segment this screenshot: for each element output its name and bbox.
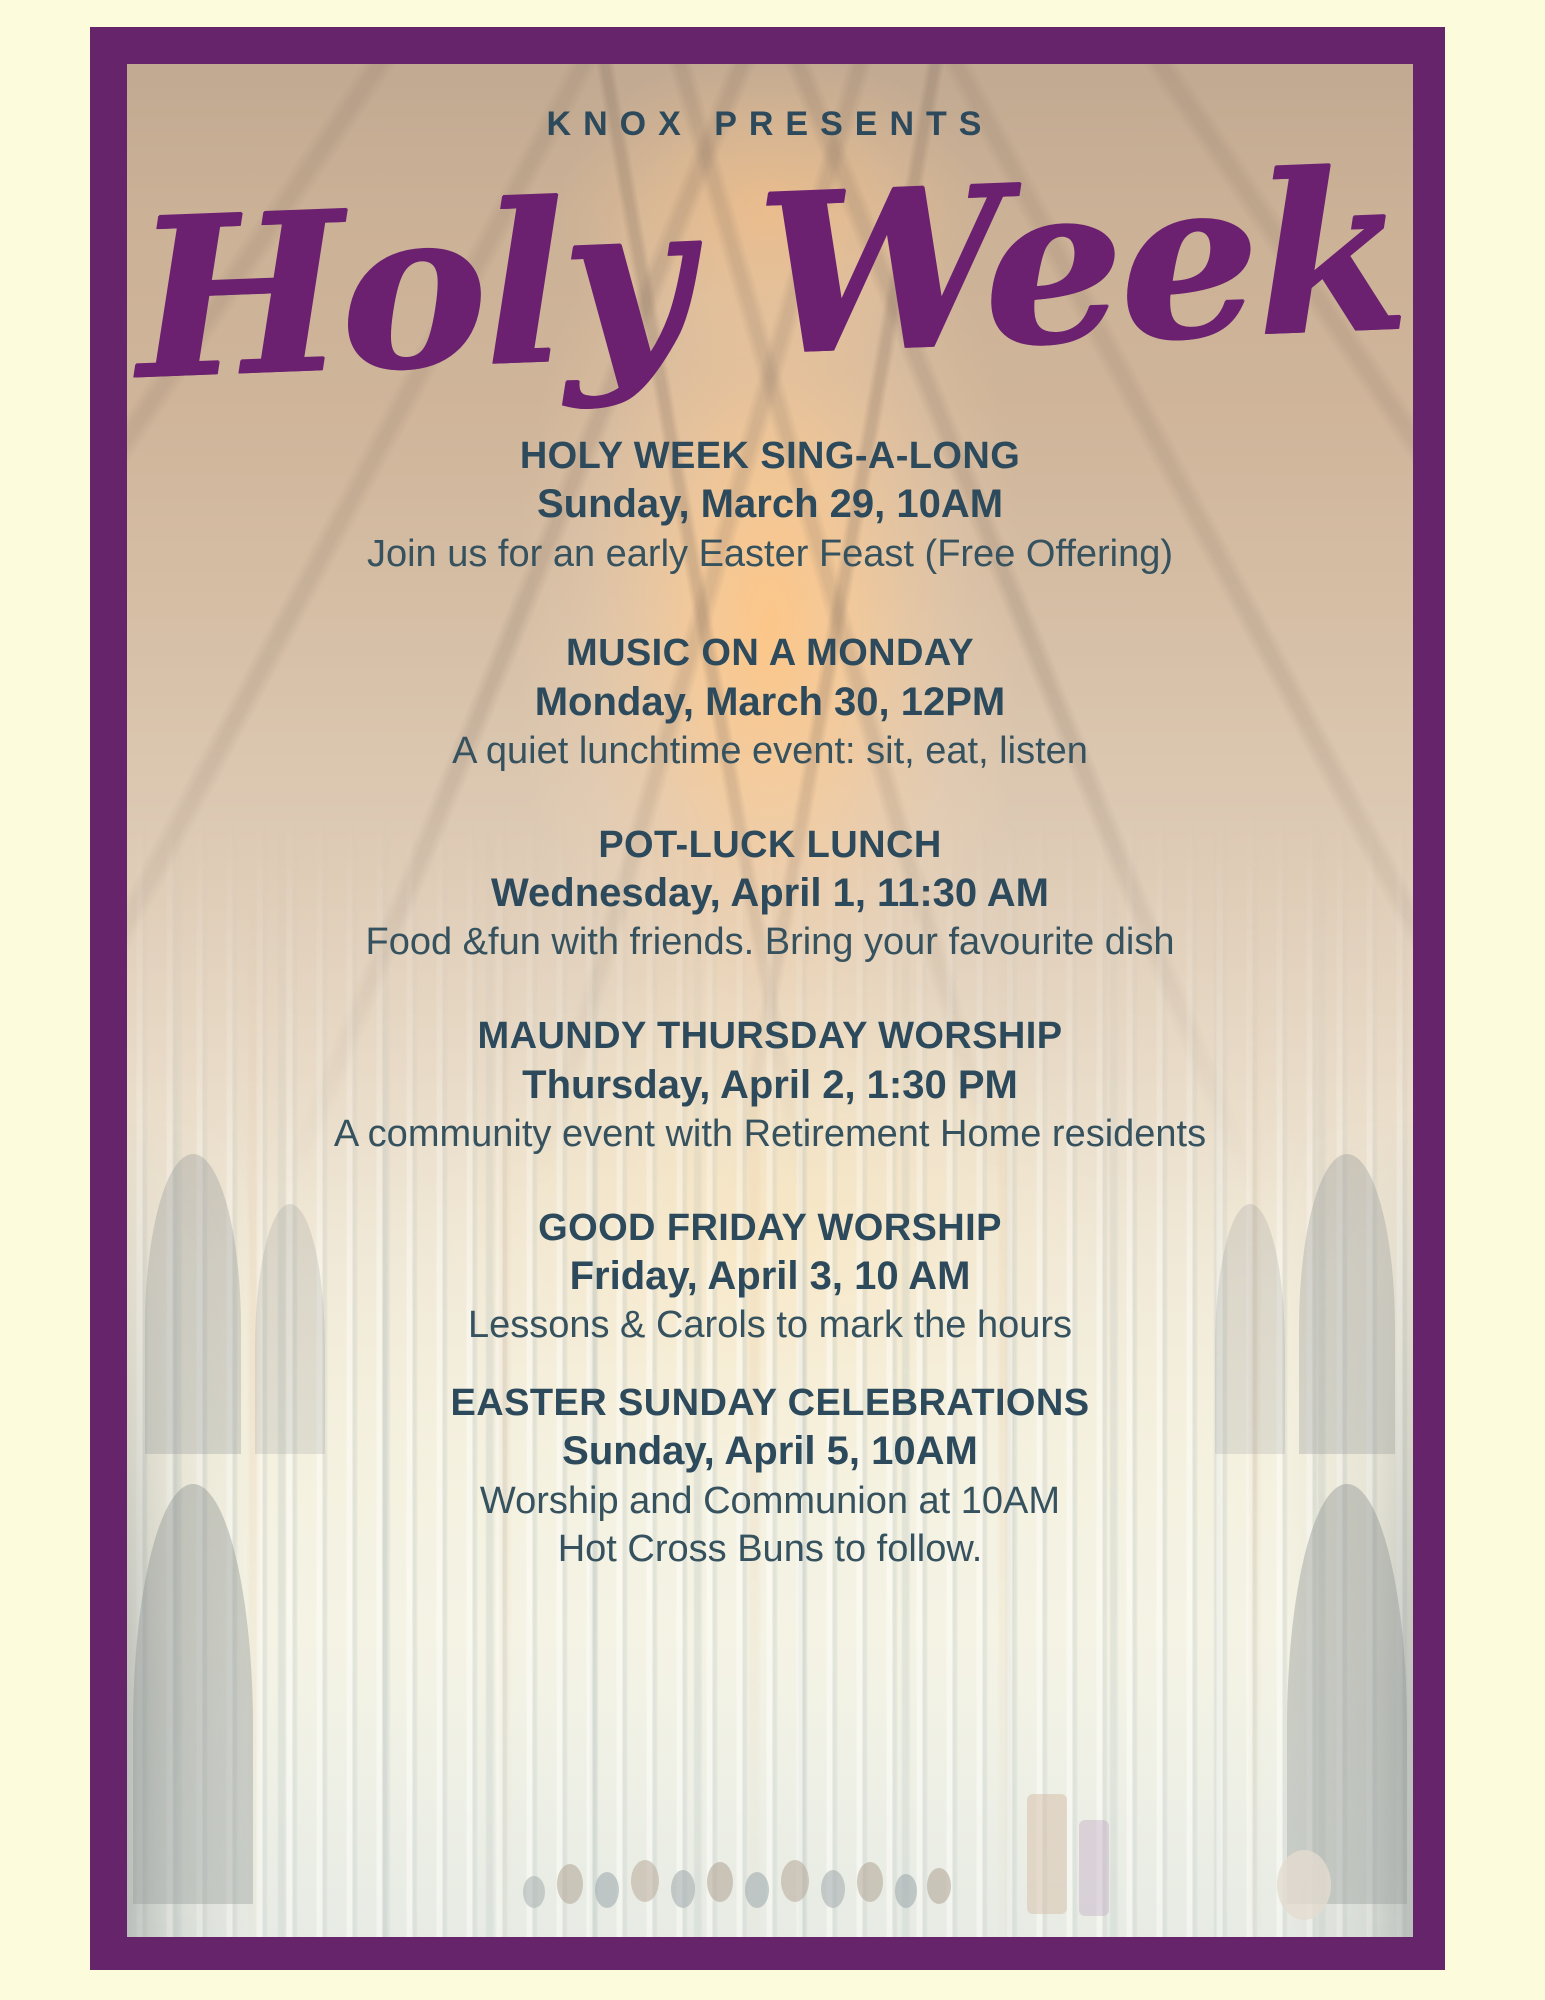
- event-description: Food &fun with friends. Bring your favou…: [145, 919, 1395, 967]
- event-title: MUSIC ON A MONDAY: [145, 630, 1395, 676]
- event-datetime: Sunday, March 29, 10AM: [145, 479, 1395, 530]
- event-item: GOOD FRIDAY WORSHIP Friday, April 3, 10 …: [127, 1205, 1413, 1350]
- poster-content: KNOX PRESENTS Holy Week HOLY WEEK SING-A…: [127, 64, 1413, 1937]
- event-datetime: Friday, April 3, 10 AM: [145, 1251, 1395, 1302]
- poster-photo-frame: KNOX PRESENTS Holy Week HOLY WEEK SING-A…: [127, 64, 1413, 1937]
- event-item: HOLY WEEK SING-A-LONG Sunday, March 29, …: [127, 433, 1413, 578]
- event-item: MUSIC ON A MONDAY Monday, March 30, 12PM…: [127, 630, 1413, 775]
- event-title: POT-LUCK LUNCH: [145, 822, 1395, 868]
- event-datetime: Thursday, April 2, 1:30 PM: [145, 1060, 1395, 1111]
- event-title: EASTER SUNDAY CELEBRATIONS: [145, 1380, 1395, 1426]
- event-datetime: Wednesday, April 1, 11:30 AM: [145, 868, 1395, 919]
- event-item: POT-LUCK LUNCH Wednesday, April 1, 11:30…: [127, 822, 1413, 967]
- event-description: Lessons & Carols to mark the hours: [145, 1302, 1395, 1350]
- page-title: Holy Week: [127, 119, 1413, 430]
- event-datetime: Monday, March 30, 12PM: [145, 677, 1395, 728]
- event-datetime: Sunday, April 5, 10AM: [145, 1426, 1395, 1477]
- event-title: HOLY WEEK SING-A-LONG: [145, 433, 1395, 479]
- event-description-secondary: Hot Cross Buns to follow.: [145, 1526, 1395, 1574]
- event-description: A community event with Retirement Home r…: [145, 1111, 1395, 1159]
- event-description: A quiet lunchtime event: sit, eat, liste…: [145, 728, 1395, 776]
- event-title: GOOD FRIDAY WORSHIP: [145, 1205, 1395, 1251]
- event-list: HOLY WEEK SING-A-LONG Sunday, March 29, …: [127, 433, 1413, 1573]
- poster-frame: KNOX PRESENTS Holy Week HOLY WEEK SING-A…: [90, 27, 1445, 1970]
- event-item: MAUNDY THURSDAY WORSHIP Thursday, April …: [127, 1013, 1413, 1158]
- event-title: MAUNDY THURSDAY WORSHIP: [145, 1013, 1395, 1059]
- event-description: Join us for an early Easter Feast (Free …: [145, 531, 1395, 579]
- event-description: Worship and Communion at 10AM: [145, 1478, 1395, 1526]
- event-item: EASTER SUNDAY CELEBRATIONS Sunday, April…: [127, 1380, 1413, 1573]
